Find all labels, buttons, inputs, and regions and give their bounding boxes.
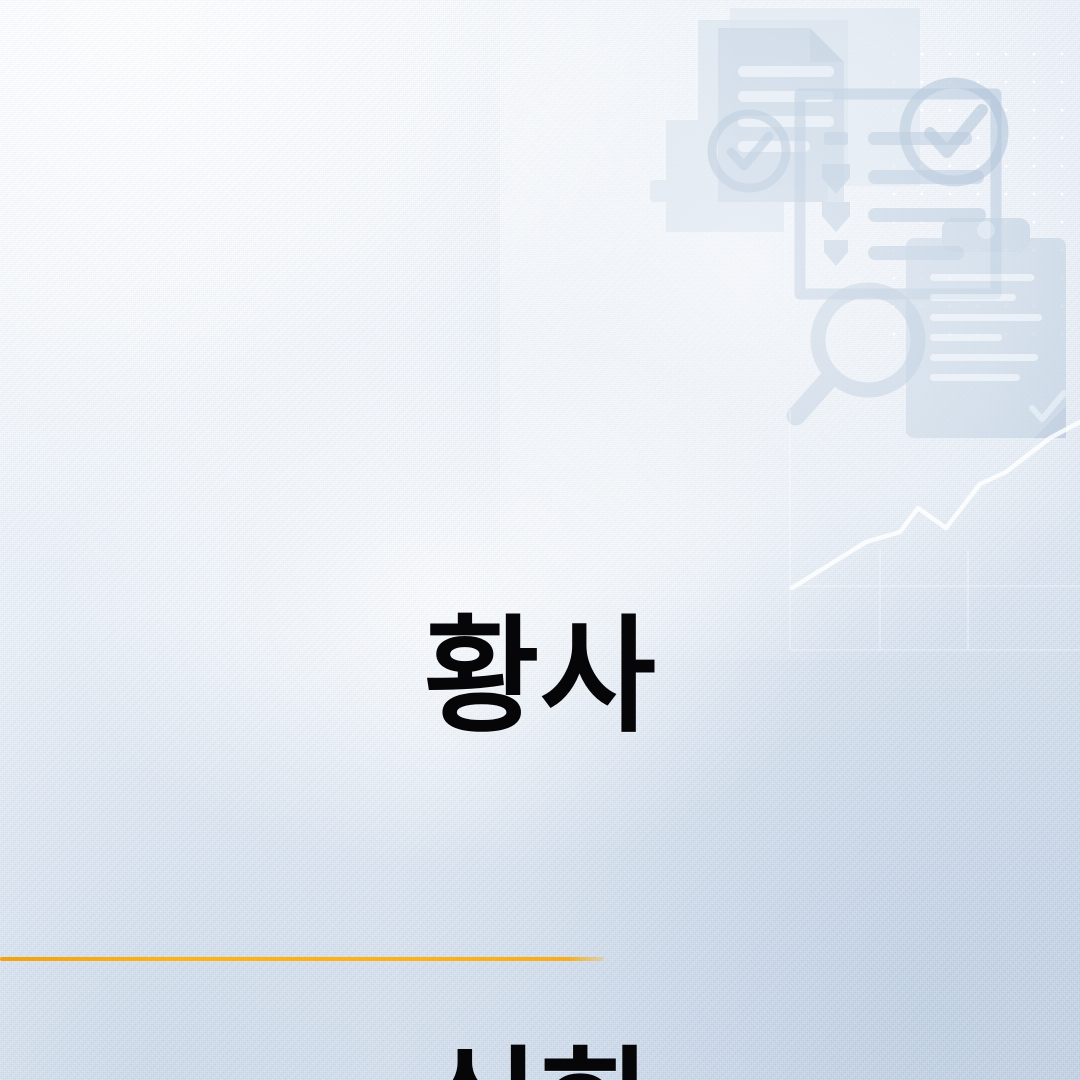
page-title: 황사 심한 날 환기 및 외출 (0, 318, 1080, 1080)
headline-line-2: 심한 (0, 1036, 1080, 1080)
poster-canvas: 황사 심한 날 환기 및 외출 (0, 0, 1080, 1080)
accent-rule (0, 957, 604, 961)
headline-line-1: 황사 (0, 605, 1080, 749)
dot-grid-pattern (880, 40, 1080, 340)
